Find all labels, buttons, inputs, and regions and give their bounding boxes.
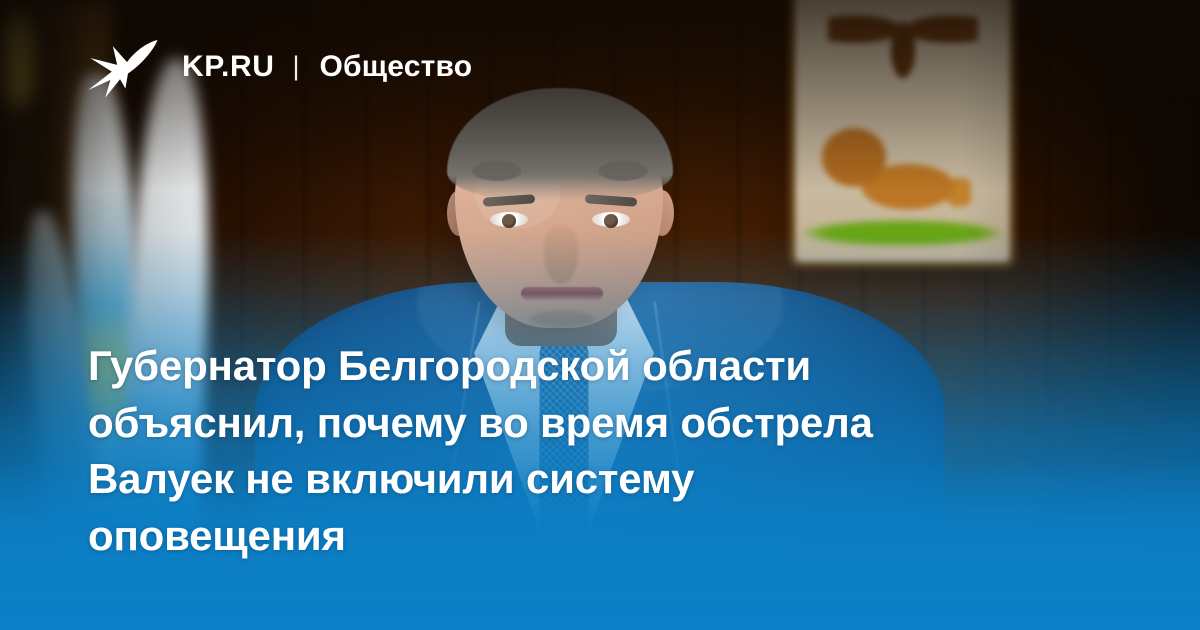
header: KP.RU | Общество: [88, 36, 472, 98]
brand-label[interactable]: KP.RU: [182, 52, 274, 82]
headline-line-4: оповещения: [88, 508, 988, 565]
share-card: KP.RU | Общество Губернатор Белгородской…: [0, 0, 1200, 630]
header-divider: |: [292, 51, 299, 82]
headline: Губернатор Белгородской области объяснил…: [88, 338, 988, 564]
headline-line-3: Валуек не включили систему: [88, 451, 988, 508]
rubric-label[interactable]: Общество: [320, 50, 473, 84]
headline-line-1: Губернатор Белгородской области: [88, 338, 988, 395]
swallow-bird-logo-icon[interactable]: [88, 36, 160, 98]
headline-line-2: объяснил, почему во время обстрела: [88, 395, 988, 452]
